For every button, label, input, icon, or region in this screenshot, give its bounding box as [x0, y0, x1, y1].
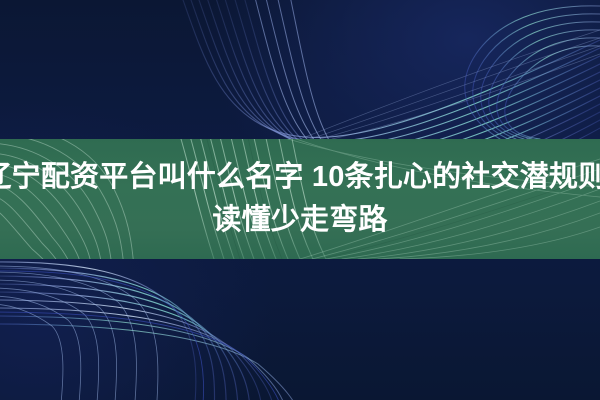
decorative-banner: 辽宁配资平台叫什么名字 10条扎心的社交潜规则, 读懂少走弯路 [0, 0, 600, 400]
headline-line-1: 辽宁配资平台叫什么名字 10条扎心的社交潜规则, [0, 156, 600, 199]
headline-line-2: 读懂少走弯路 [212, 199, 387, 242]
headline-text-block: 辽宁配资平台叫什么名字 10条扎心的社交潜规则, 读懂少走弯路 [0, 139, 600, 259]
